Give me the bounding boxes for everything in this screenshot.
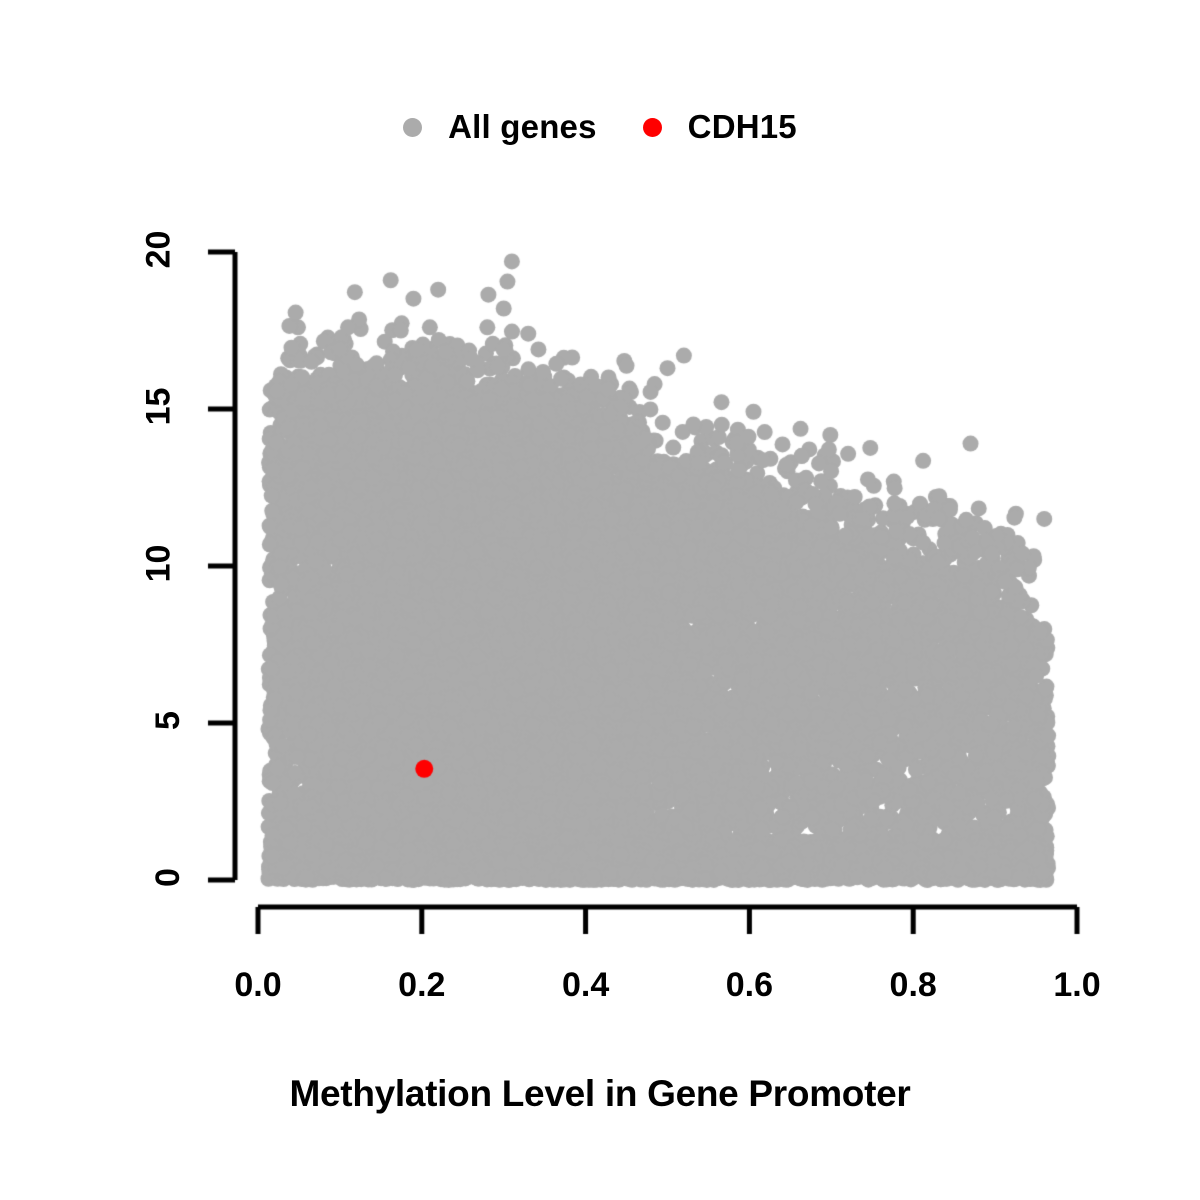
legend-entry-cdh15: CDH15 [643, 108, 797, 146]
x-tick-label: 0.2 [398, 966, 445, 1005]
scatter-plot-canvas [0, 0, 1200, 1200]
x-tick-label: 0.8 [890, 966, 937, 1005]
y-tick-label: 0 [159, 858, 178, 897]
scatter-plot-figure: All genes CDH15 Methylation Level in Gen… [0, 0, 1200, 1200]
y-tick-label: 5 [159, 701, 178, 740]
y-tick-label: 10 [140, 544, 178, 583]
legend-label-cdh15: CDH15 [688, 108, 797, 146]
x-tick-label: 0.4 [562, 966, 609, 1005]
legend-label-all-genes: All genes [448, 108, 597, 146]
red-dot-icon [643, 118, 662, 137]
y-tick-label: 20 [140, 230, 178, 269]
y-tick-label: 15 [140, 387, 178, 426]
x-tick-label: 0.0 [234, 966, 281, 1005]
legend: All genes CDH15 [0, 108, 1200, 146]
x-tick-label: 0.6 [726, 966, 773, 1005]
x-axis-title: Methylation Level in Gene Promoter [0, 1073, 1200, 1115]
x-tick-label: 1.0 [1053, 966, 1100, 1005]
gray-dot-icon [403, 118, 422, 137]
legend-entry-all-genes: All genes [403, 108, 597, 146]
